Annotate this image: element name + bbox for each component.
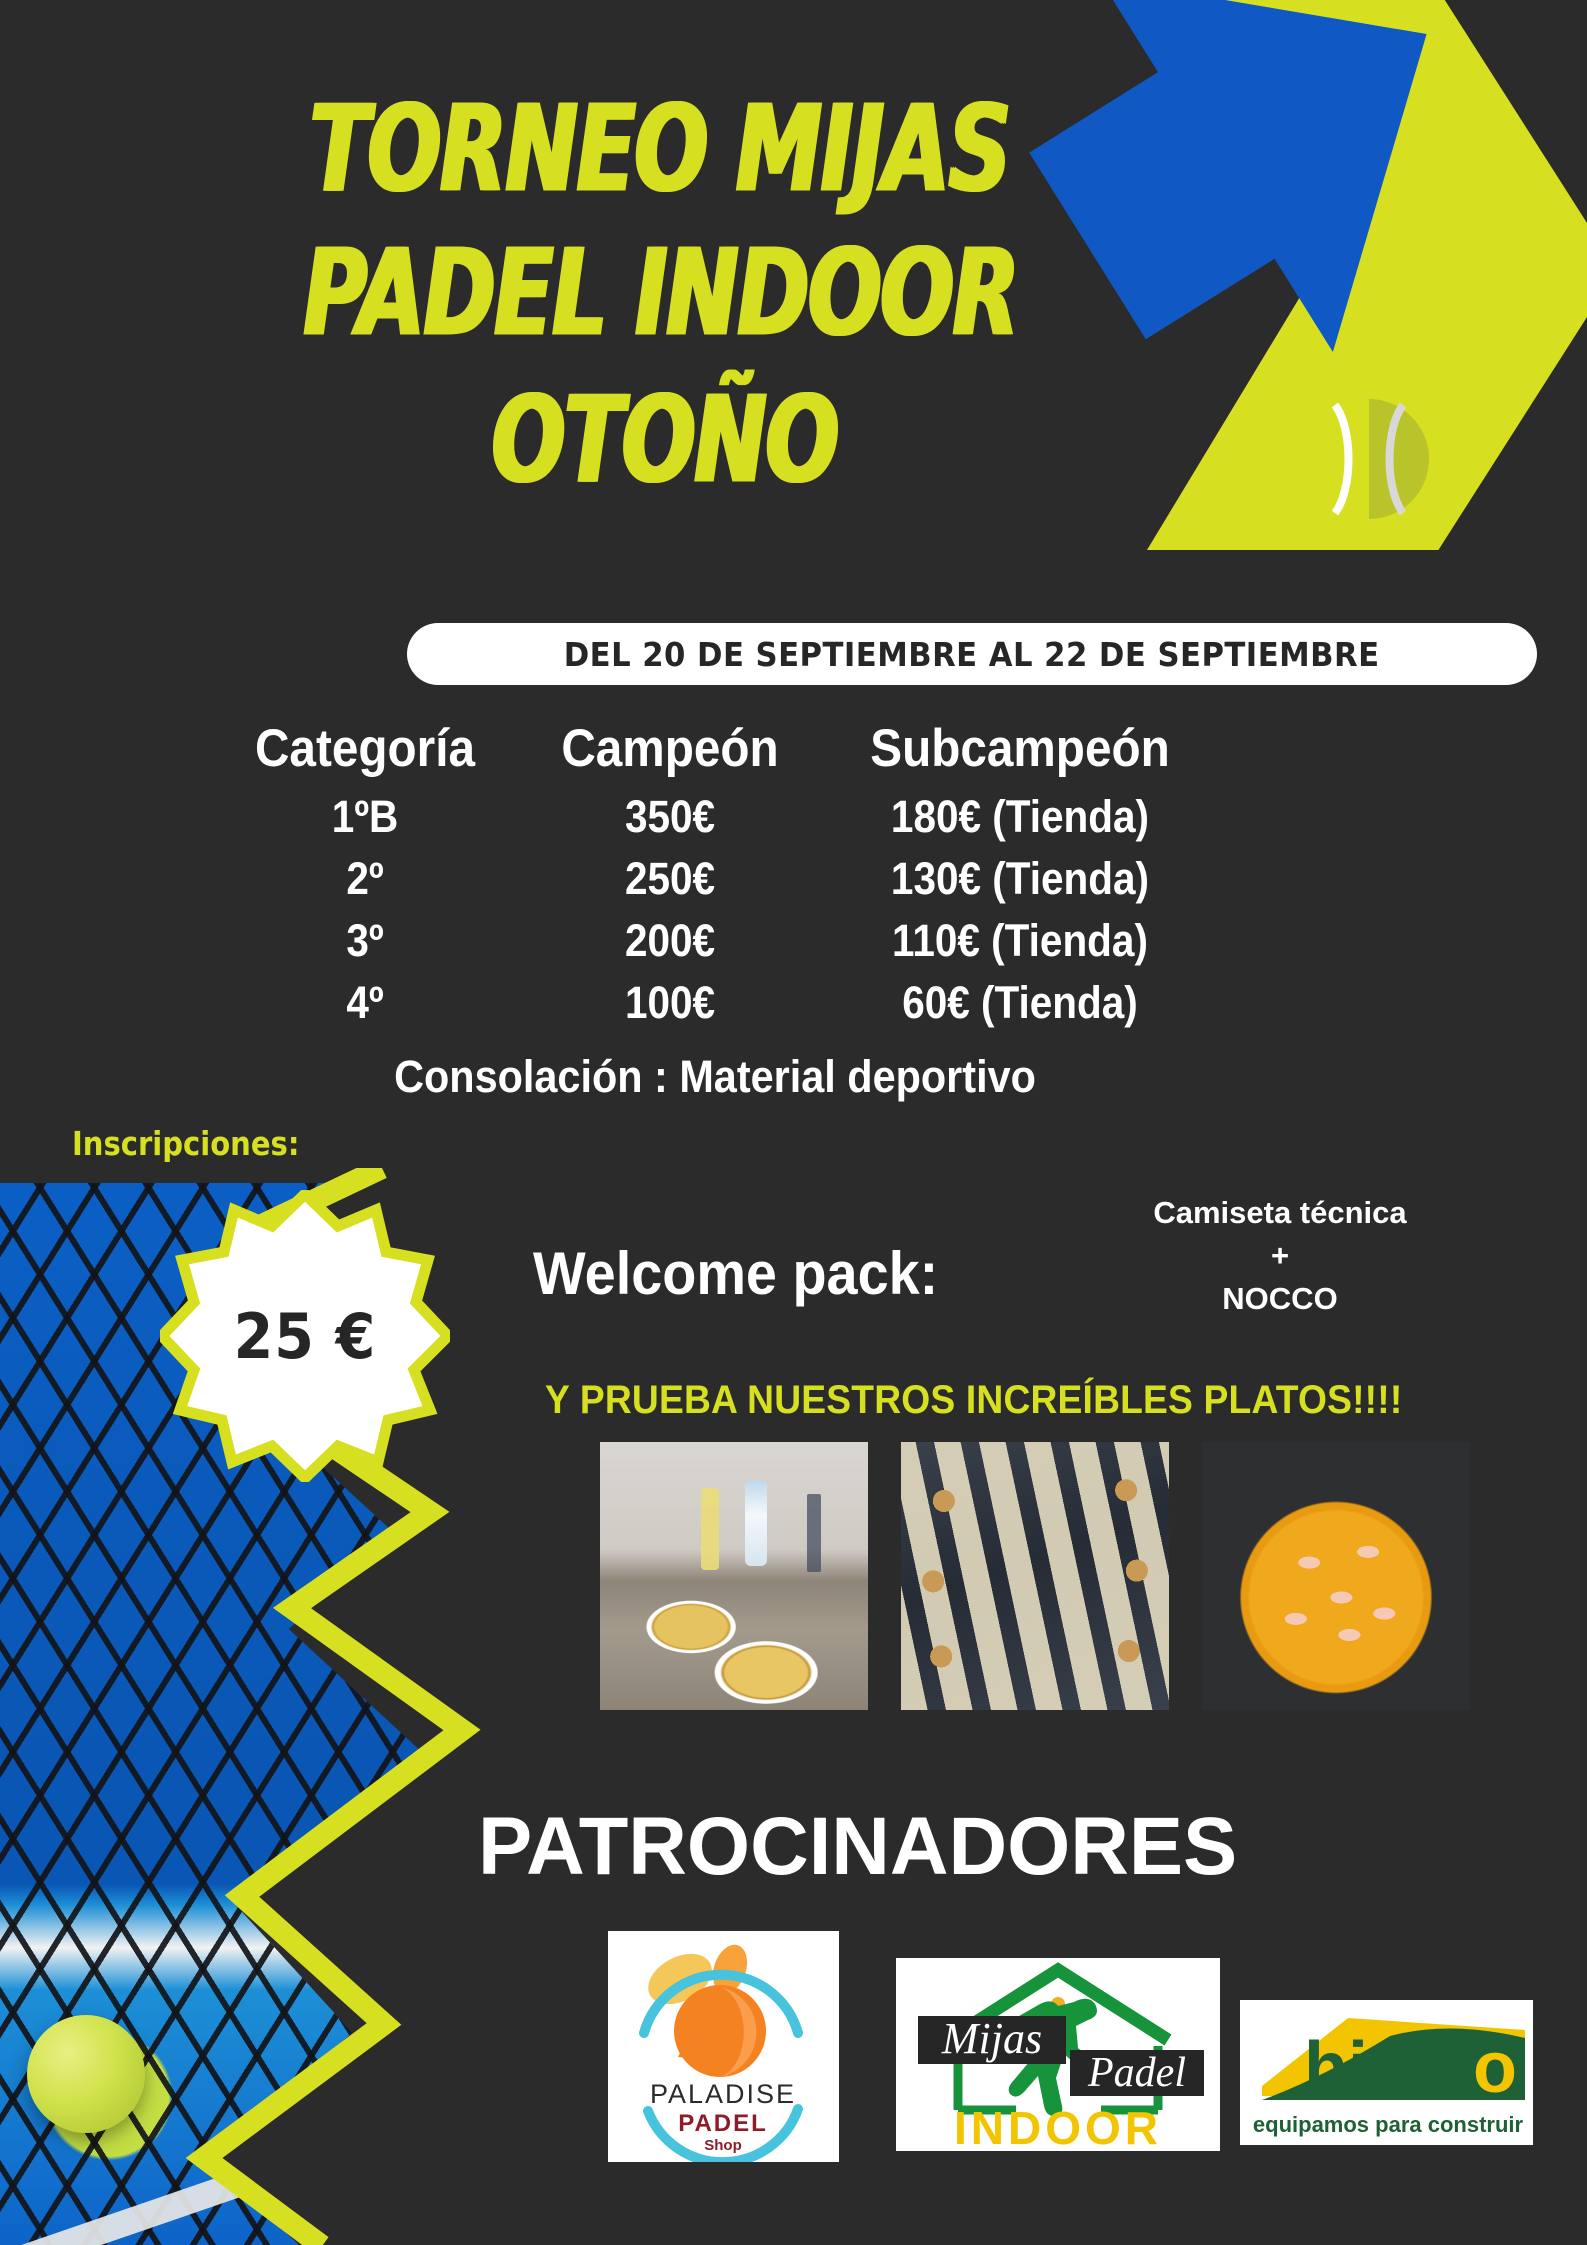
registration-price-badge: 25 € <box>160 1190 450 1482</box>
sponsor-logo-paladise: PALADISE PADEL Shop <box>608 1931 839 2162</box>
pack-item-plus: + <box>1100 1235 1460 1278</box>
indoor-text: INDOOR <box>954 2102 1162 2151</box>
prize-table: Categoría Campeón Subcampeón 1ºB 350€ 18… <box>210 718 1440 1103</box>
poster-root: TORNEO MIJAS PADEL INDOOR OTOÑO DEL 20 D… <box>0 0 1587 2245</box>
cell-campeon: 250€ <box>535 853 805 905</box>
pack-item-shirt: Camiseta técnica <box>1100 1192 1460 1235</box>
cell-categoria: 3º <box>226 915 505 967</box>
cell-subcampeon: 130€ (Tienda) <box>840 853 1200 905</box>
paladise-text-1: PALADISE <box>650 2079 796 2109</box>
title-line-3: OTOÑO <box>0 386 1357 497</box>
title-line-2: PADEL INDOOR <box>0 239 1357 350</box>
cell-campeon: 200€ <box>535 915 805 967</box>
header-campeon: Campeón <box>535 718 805 779</box>
sponsor-logo-hiemo: hiem o equipamos para construir <box>1240 2000 1533 2145</box>
cheese-platter-photo <box>901 1442 1169 1710</box>
hiemo-text-green: hiem <box>1304 2028 1472 2108</box>
header-subcampeon: Subcampeón <box>840 718 1200 779</box>
hiemo-logo-graphic: hiem o equipamos para construir <box>1240 2000 1533 2145</box>
welcome-pack-contents: Camiseta técnica + NOCCO <box>1100 1192 1460 1320</box>
table-row: 1ºB 350€ 180€ (Tienda) <box>210 791 1440 843</box>
table-body: 1ºB 350€ 180€ (Tienda) 2º 250€ 130€ (Tie… <box>210 791 1440 1029</box>
cell-categoria: 2º <box>226 853 505 905</box>
cell-campeon: 100€ <box>535 977 805 1029</box>
cell-categoria: 4º <box>226 977 505 1029</box>
poster-title: TORNEO MIJAS PADEL INDOOR OTOÑO <box>0 95 1330 462</box>
cell-subcampeon: 60€ (Tienda) <box>840 977 1200 1029</box>
court-tennis-ball <box>27 2015 145 2133</box>
header-categoria: Categoría <box>226 718 505 779</box>
paella-photo <box>1202 1442 1470 1710</box>
paladise-logo-graphic: PALADISE PADEL Shop <box>608 1931 839 2162</box>
hiemo-tagline: equipamos para construir <box>1253 2112 1524 2137</box>
table-row: 4º 100€ 60€ (Tienda) <box>210 977 1440 1029</box>
food-photo-row <box>600 1442 1500 1710</box>
pack-item-nocco: NOCCO <box>1100 1278 1460 1321</box>
date-banner: DEL 20 DE SEPTIEMBRE AL 22 DE SEPTIEMBRE <box>407 623 1537 685</box>
mijas-text: Mijas <box>941 2014 1042 2063</box>
cell-subcampeon: 110€ (Tienda) <box>840 915 1200 967</box>
consolation-prize-text: Consolación : Material deportivo <box>250 1051 1179 1103</box>
title-line-1: TORNEO MIJAS <box>0 95 1357 206</box>
hiemo-text-yellow: o <box>1473 2028 1517 2108</box>
padel-text: Padel <box>1087 2050 1186 2096</box>
cell-subcampeon: 180€ (Tienda) <box>840 791 1200 843</box>
food-headline: Y PRUEBA NUESTROS INCREÍBLES PLATOS!!!! <box>545 1378 1402 1423</box>
table-header-row: Categoría Campeón Subcampeón <box>210 718 1440 779</box>
welcome-pack-label: Welcome pack: <box>533 1239 938 1308</box>
table-row: 2º 250€ 130€ (Tienda) <box>210 853 1440 905</box>
sponsor-logo-mijas-padel-indoor: Mijas Padel INDOOR <box>896 1958 1220 2151</box>
date-banner-text: DEL 20 DE SEPTIEMBRE AL 22 DE SEPTIEMBRE <box>564 635 1380 674</box>
paladise-text-3: Shop <box>704 2137 742 2154</box>
table-row: 3º 200€ 110€ (Tienda) <box>210 915 1440 967</box>
registration-price-text: 25 € <box>172 1190 439 1482</box>
registration-label: Inscripciones: <box>72 1124 299 1163</box>
cell-campeon: 350€ <box>535 791 805 843</box>
mijas-logo-graphic: Mijas Padel INDOOR <box>896 1958 1220 2151</box>
cell-categoria: 1ºB <box>226 791 505 843</box>
paladise-text-2: PADEL <box>678 2110 768 2137</box>
tortilla-photo <box>600 1442 868 1710</box>
sponsors-title: PATROCINADORES <box>478 1800 1237 1894</box>
